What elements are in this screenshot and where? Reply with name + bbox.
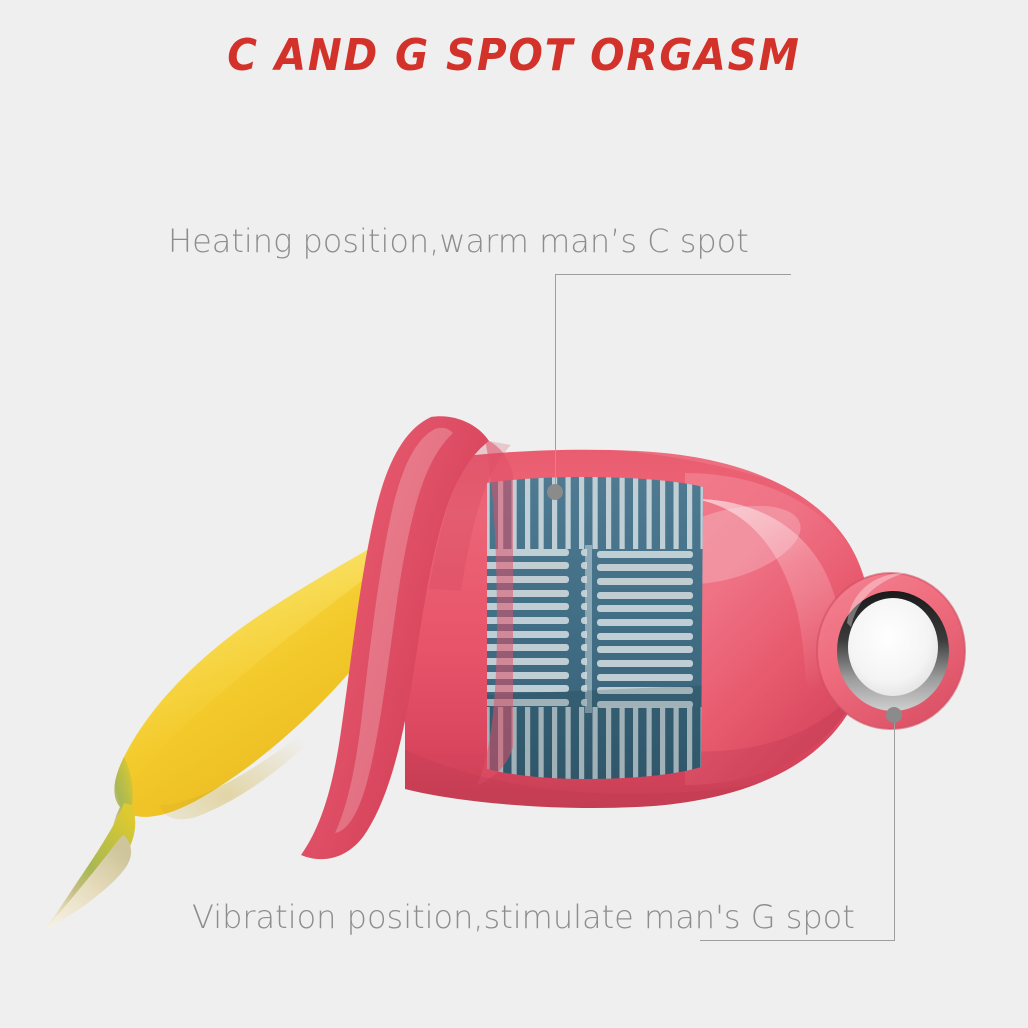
product-infographic: C AND G SPOT ORGASM <box>0 0 1028 1028</box>
product-illustration <box>255 395 975 885</box>
vibration-ring-port <box>817 573 965 729</box>
heating-band-bottom-shade <box>483 685 713 787</box>
ring-hole <box>848 598 938 696</box>
leader-line-heating-horizontal <box>555 274 791 275</box>
leader-dot-heating <box>547 484 563 500</box>
heating-band <box>483 477 713 787</box>
banana-tip-cream <box>44 835 131 931</box>
leader-line-vibration-horizontal <box>700 940 894 941</box>
leader-line-heating-vertical <box>555 274 556 492</box>
callout-label-vibration: Vibration position,stimulate man's G spo… <box>192 898 855 936</box>
callout-label-heating: Heating position,warm man’s C spot <box>168 222 749 260</box>
page-title: C AND G SPOT ORGASM <box>41 30 987 81</box>
leader-dot-vibration <box>886 707 902 723</box>
leader-line-vibration-vertical <box>894 722 895 941</box>
